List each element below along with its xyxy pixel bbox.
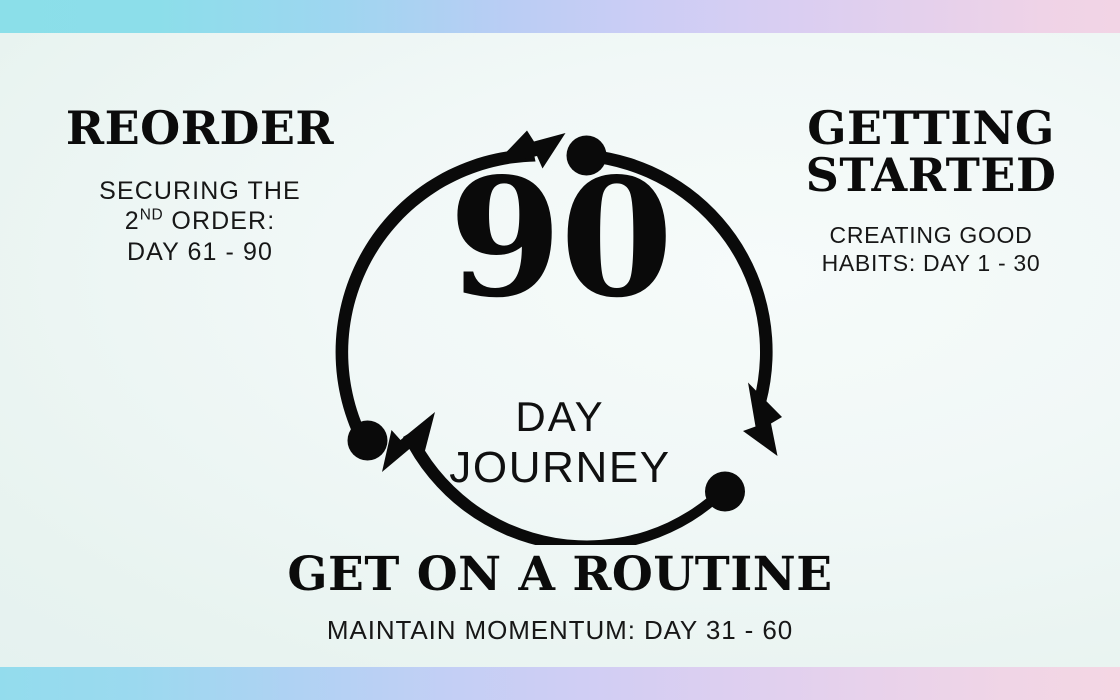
reorder-ordinal-suffix: ND (140, 207, 164, 224)
arrowhead-reorder-icon (494, 131, 566, 169)
infographic-stage: REORDER SECURING THE 2ND ORDER: DAY 61 -… (0, 33, 1120, 667)
dot-routine-start (705, 472, 745, 512)
reorder-heading: REORDER (40, 105, 360, 152)
arc-routine (403, 431, 730, 546)
routine-heading: GET ON A ROUTINE (235, 551, 885, 599)
getting-started-subtext-line2: HABITS: DAY 1 - 30 (772, 249, 1090, 277)
getting-started-heading-line2: STARTED (772, 152, 1090, 199)
section-get-on-a-routine: GET ON A ROUTINE MAINTAIN MOMENTUM: DAY … (235, 551, 885, 647)
getting-started-subtext: CREATING GOOD HABITS: DAY 1 - 30 (772, 221, 1090, 277)
bottom-gradient-band (0, 667, 1120, 700)
cycle-diagram (330, 85, 790, 545)
infographic-canvas: REORDER SECURING THE 2ND ORDER: DAY 61 -… (0, 0, 1120, 700)
section-reorder: REORDER SECURING THE 2ND ORDER: DAY 61 -… (40, 105, 360, 267)
top-gradient-band (0, 0, 1120, 33)
dot-getting-started-start (567, 136, 607, 176)
reorder-subtext-line1: SECURING THE (40, 176, 360, 207)
arc-getting-started (587, 150, 773, 404)
dot-reorder-start (348, 421, 388, 461)
reorder-subtext-line3: DAY 61 - 90 (40, 237, 360, 268)
routine-subtext: MAINTAIN MOMENTUM: DAY 31 - 60 (235, 615, 885, 647)
arc-reorder (336, 149, 536, 438)
reorder-ordinal-number: 2 (125, 207, 140, 235)
getting-started-subtext-line1: CREATING GOOD (772, 221, 1090, 249)
getting-started-heading-line1: GETTING (772, 105, 1090, 152)
reorder-subtext-line2: 2ND ORDER: (40, 206, 360, 237)
reorder-subtext: SECURING THE 2ND ORDER: DAY 61 - 90 (40, 176, 360, 268)
reorder-order-word: ORDER: (163, 207, 275, 235)
section-getting-started: GETTING STARTED CREATING GOOD HABITS: DA… (772, 105, 1090, 277)
